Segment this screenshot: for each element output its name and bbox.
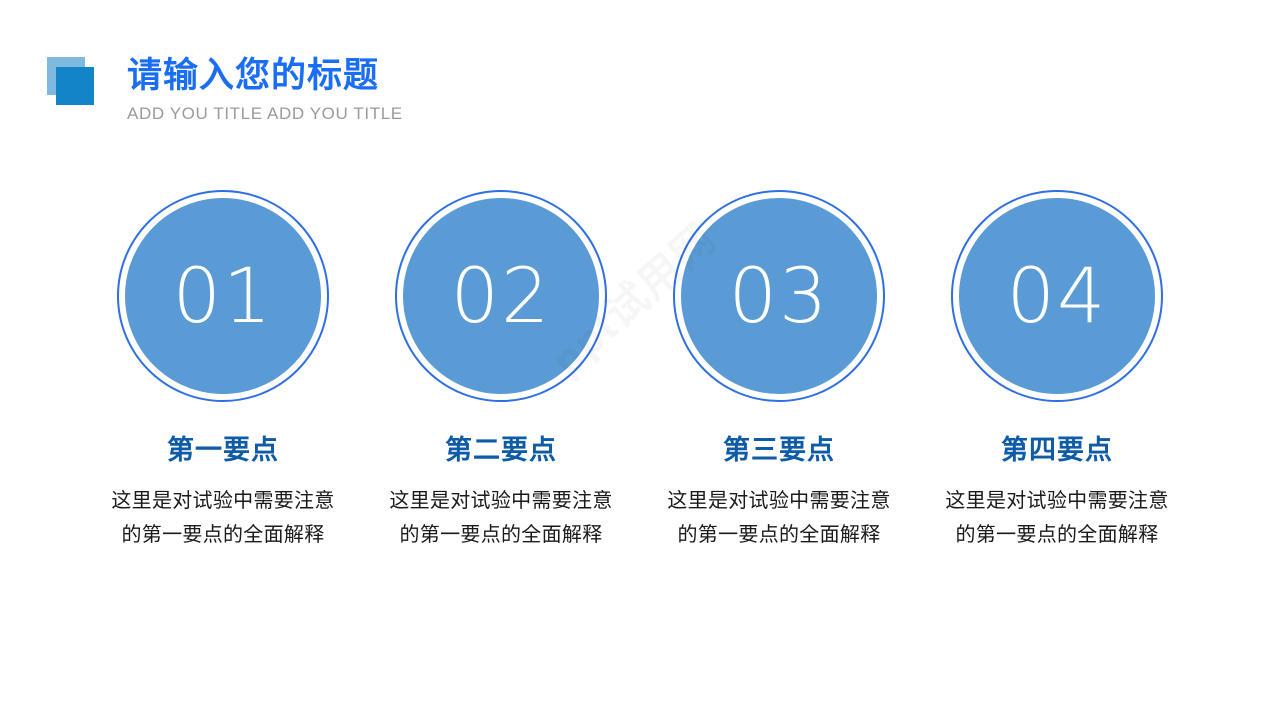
page-title: 请输入您的标题 [127, 52, 403, 100]
number-badge-4: 04 [951, 190, 1163, 402]
logo-squares-icon [47, 57, 95, 105]
point-body-1: 这里是对试验中需要注意的第一要点的全面解释 [107, 484, 339, 552]
number-badge-1: 01 [117, 190, 329, 402]
slide-header: 请输入您的标题 ADD YOU TITLE ADD YOU TITLE [0, 0, 1280, 160]
point-column-4: 04 第四要点 这里是对试验中需要注意的第一要点的全面解释 [918, 190, 1196, 552]
point-heading-3: 第三要点 [723, 432, 835, 468]
badge-number-4: 04 [1007, 258, 1108, 334]
badge-number-2: 02 [451, 258, 552, 334]
point-body-4: 这里是对试验中需要注意的第一要点的全面解释 [941, 484, 1173, 552]
point-column-1: 01 第一要点 这里是对试验中需要注意的第一要点的全面解释 [84, 190, 362, 552]
number-badge-2: 02 [395, 190, 607, 402]
badge-number-1: 01 [173, 258, 274, 334]
page-subtitle: ADD YOU TITLE ADD YOU TITLE [127, 104, 403, 124]
point-heading-1: 第一要点 [167, 432, 279, 468]
title-block: 请输入您的标题 ADD YOU TITLE ADD YOU TITLE [127, 52, 403, 124]
logo-square-front-icon [56, 67, 94, 105]
point-heading-4: 第四要点 [1001, 432, 1113, 468]
point-body-3: 这里是对试验中需要注意的第一要点的全面解释 [663, 484, 895, 552]
slide-canvas: 请输入您的标题 ADD YOU TITLE ADD YOU TITLE ppt试… [0, 0, 1280, 720]
point-body-2: 这里是对试验中需要注意的第一要点的全面解释 [385, 484, 617, 552]
point-column-2: 02 第二要点 这里是对试验中需要注意的第一要点的全面解释 [362, 190, 640, 552]
points-row: 01 第一要点 这里是对试验中需要注意的第一要点的全面解释 02 第二要点 这里… [0, 190, 1280, 650]
number-badge-3: 03 [673, 190, 885, 402]
point-column-3: 03 第三要点 这里是对试验中需要注意的第一要点的全面解释 [640, 190, 918, 552]
point-heading-2: 第二要点 [445, 432, 557, 468]
badge-number-3: 03 [729, 258, 830, 334]
